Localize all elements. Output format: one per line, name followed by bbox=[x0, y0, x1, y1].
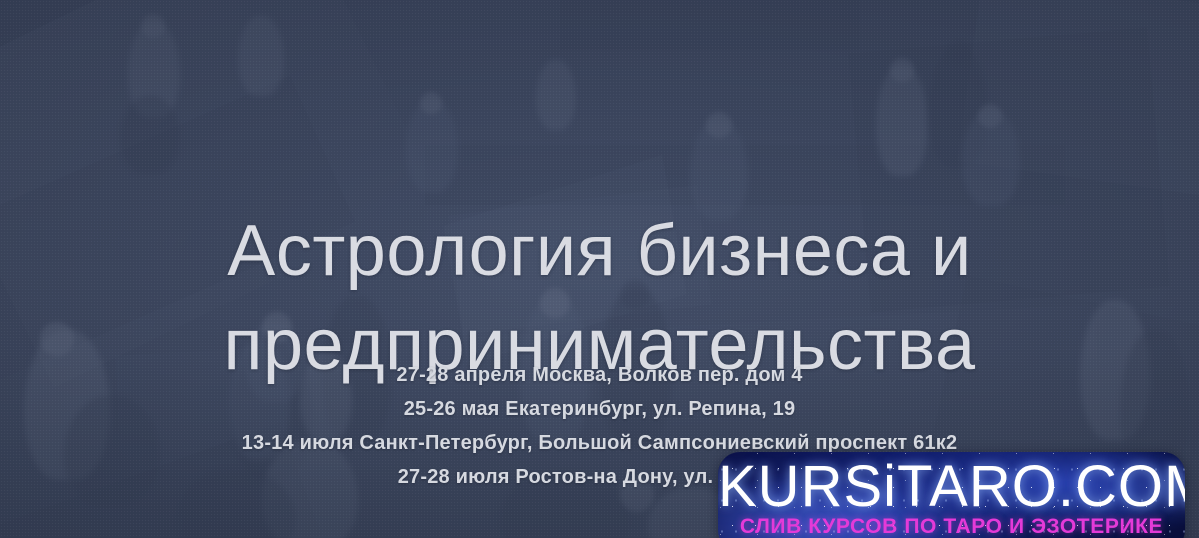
event-line-ekaterinburg: 25-26 мая Екатеринбург, ул. Репина, 19 bbox=[0, 392, 1199, 426]
page-title-line-1: Астрология бизнеса и bbox=[0, 204, 1199, 298]
kursitaro-watermark-badge: KURSiTARO.COM СЛИВ КУРСОВ ПО ТАРО И ЭЗОТ… bbox=[718, 452, 1185, 538]
watermark-site-name: KURSiTARO.COM bbox=[718, 456, 1185, 518]
event-line-moscow: 27-28 апреля Москва, Волков пер. дом 4 bbox=[0, 358, 1199, 392]
watermark-tagline: СЛИВ КУРСОВ ПО ТАРО И ЭЗОТЕРИКЕ bbox=[718, 514, 1185, 538]
hero-banner: Астрология бизнеса и предпринимательства… bbox=[0, 0, 1199, 538]
